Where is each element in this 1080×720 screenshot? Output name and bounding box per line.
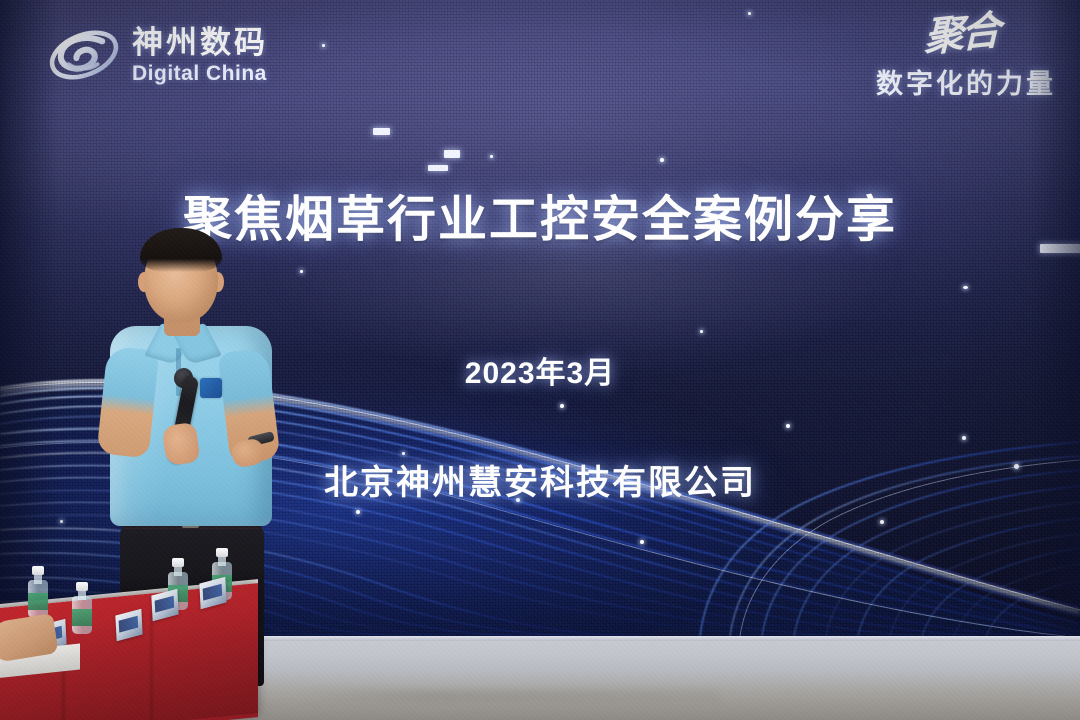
bottle-cap <box>216 548 228 557</box>
speaker-shirt-logo-icon <box>200 378 222 398</box>
particle-dot <box>490 155 493 158</box>
stage-floor-scuff <box>300 690 720 702</box>
water-bottle <box>72 582 92 634</box>
speaker-person <box>96 228 286 618</box>
particle-dot <box>748 12 751 15</box>
speaker-hand-holding-mic <box>161 422 200 466</box>
stage-photo-scene: 神州数码 Digital China 聚合 数字化的力量 聚焦烟草行业工控安全案… <box>0 0 1080 720</box>
particle-dot <box>300 270 303 273</box>
name-card-text <box>155 596 175 613</box>
bottle-label <box>28 593 48 610</box>
bottle-neck <box>78 590 86 600</box>
bottle-cap <box>76 582 88 591</box>
particle-dash <box>428 165 448 171</box>
slogan-tagline: 数字化的力量 <box>876 62 1056 101</box>
speaker-hair <box>140 228 222 272</box>
particle-dot <box>322 44 325 47</box>
digital-china-wordmark: 神州数码 Digital China <box>132 27 268 84</box>
slogan-calligraphy: 聚合 <box>876 12 997 63</box>
name-card-text <box>119 616 139 633</box>
name-card-text <box>203 584 223 601</box>
bottle-neck <box>218 556 226 566</box>
water-bottle <box>28 566 48 618</box>
digital-china-logo: 神州数码 Digital China <box>46 24 268 86</box>
bottle-neck <box>34 574 42 584</box>
brand-name-en: Digital China <box>132 63 268 84</box>
digital-china-swirl-icon <box>46 24 122 86</box>
bottle-neck <box>174 566 182 576</box>
table-cloth-fold <box>150 612 153 720</box>
event-slogan: 聚合 数字化的力量 <box>876 18 1056 101</box>
bottle-label <box>72 609 92 626</box>
bottle-cap <box>172 558 184 567</box>
brand-name-cn: 神州数码 <box>132 27 268 58</box>
bottle-cap <box>32 566 44 575</box>
particle-dot <box>963 286 968 289</box>
particle-dot <box>660 158 664 162</box>
particle-dash <box>444 150 460 158</box>
particle-dash <box>373 128 390 135</box>
